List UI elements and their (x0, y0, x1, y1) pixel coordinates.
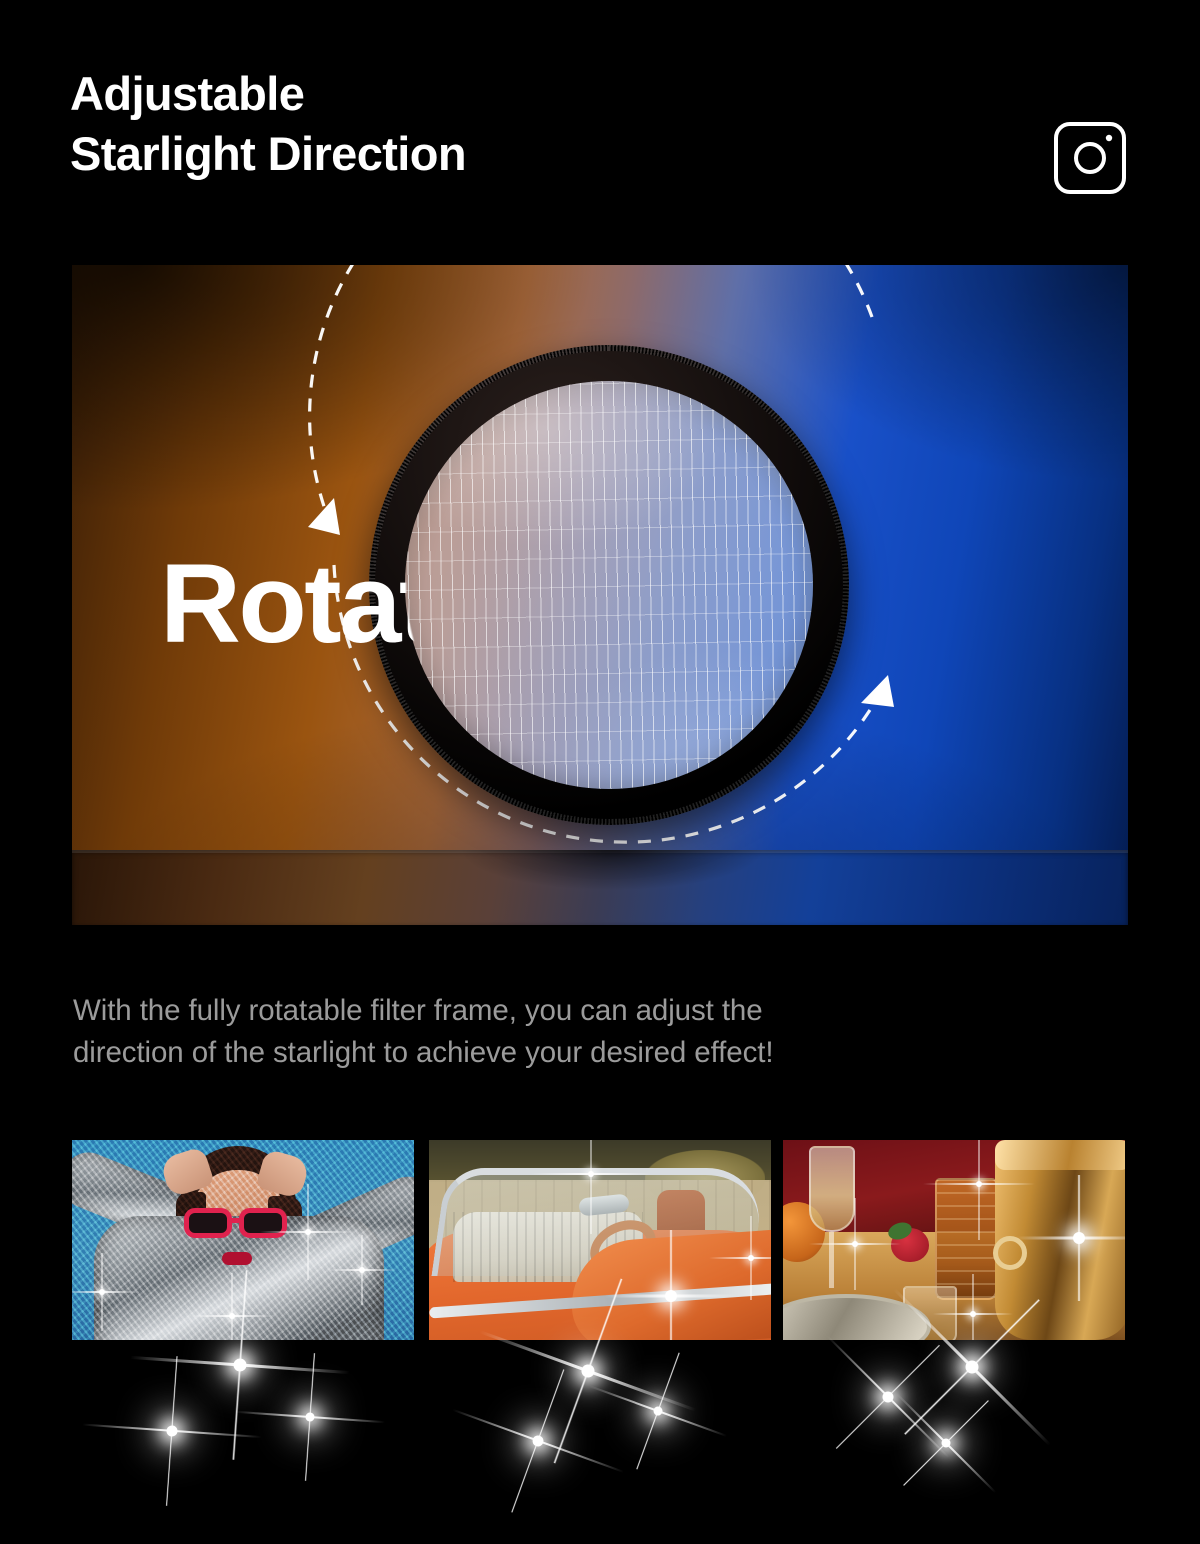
starlight-effect-row (0, 1335, 1200, 1500)
star-cluster-right (850, 1335, 1200, 1500)
whiskey-glass (935, 1178, 997, 1300)
header: Adjustable Starlight Direction (0, 0, 1200, 250)
hero-product-image: Rotationally Rotationally (72, 265, 1128, 925)
champagne-flute (809, 1146, 855, 1296)
star-cluster-left (120, 1335, 520, 1500)
strawberry (891, 1228, 929, 1262)
model-lips (222, 1252, 252, 1265)
description-text: With the fully rotatable filter frame, y… (73, 990, 1073, 1074)
hero-word-layer: Rotationally Rotationally (72, 265, 1128, 925)
camera-icon (1052, 120, 1128, 196)
hero-word-overlay: Rotationally (160, 548, 1128, 660)
thumbnail-drinks-still-life[interactable] (783, 1140, 1125, 1340)
thumbnail-classic-car[interactable] (429, 1140, 771, 1340)
ice-bucket-handle (993, 1236, 1027, 1270)
sample-photo-gallery (72, 1140, 1128, 1340)
ice-bucket-rim (995, 1140, 1125, 1170)
red-sunglasses (184, 1208, 290, 1238)
star-cluster-center (490, 1335, 890, 1500)
page-title: Adjustable Starlight Direction (70, 64, 466, 184)
